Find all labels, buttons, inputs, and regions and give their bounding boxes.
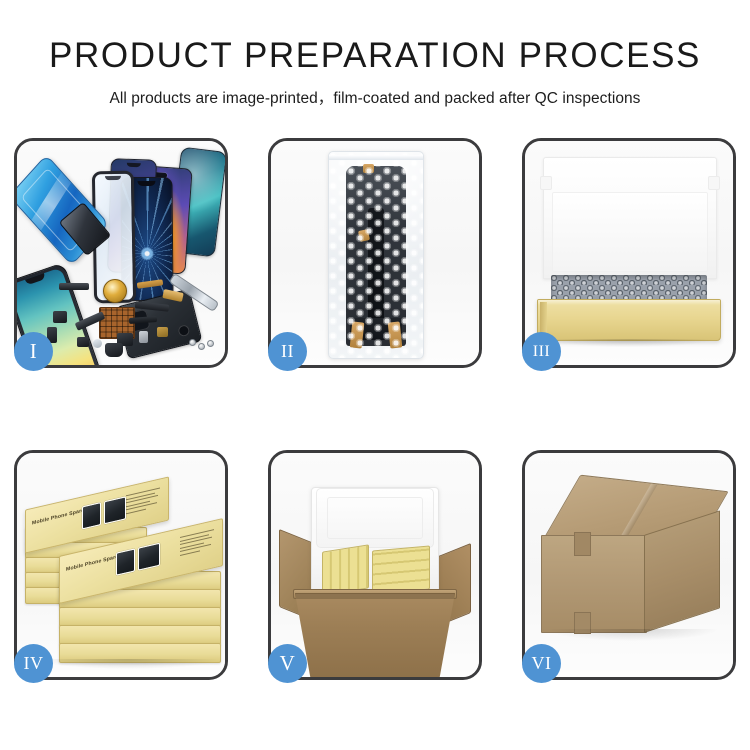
box-lid-text-lines <box>180 529 214 563</box>
small-part-icon <box>157 327 168 337</box>
stack-shadow <box>39 659 217 669</box>
carton-shadow <box>547 629 717 641</box>
box-lid-window <box>138 543 160 571</box>
step-badge-5: V <box>268 644 307 683</box>
header: PRODUCT PREPARATION PROCESS All products… <box>0 34 750 108</box>
packed-box-column <box>372 545 430 594</box>
step-2-illustration <box>271 141 479 365</box>
speaker-coil-icon <box>103 279 127 303</box>
step-5-illustration <box>271 453 479 677</box>
small-part-icon <box>139 331 148 343</box>
page-title: PRODUCT PREPARATION PROCESS <box>0 34 750 78</box>
bubble-wrap-bag-icon <box>328 151 424 359</box>
step-panel-5: V <box>268 450 482 680</box>
foam-liner-icon <box>311 487 439 599</box>
step-panel-2: II <box>268 138 482 368</box>
step-panel-3: III <box>522 138 736 368</box>
dark-bar-part-icon <box>59 283 89 290</box>
foam-sheet-icon <box>543 157 717 279</box>
stacked-box <box>59 625 221 645</box>
box-lid-text-lines <box>126 487 160 521</box>
bubble-texture-icon <box>329 152 423 358</box>
box-lid-window <box>82 502 101 529</box>
step-6-illustration <box>525 453 733 677</box>
sealed-carton-icon <box>541 483 719 633</box>
process-step-grid: I II <box>14 138 736 680</box>
small-part-icon <box>93 339 102 348</box>
small-part-icon <box>77 337 89 347</box>
product-preparation-infographic: PRODUCT PREPARATION PROCESS All products… <box>0 0 750 750</box>
carton-front-face <box>541 535 647 633</box>
step-badge-1: I <box>14 332 53 371</box>
step-4-illustration: Mobile Phone Spare Parts Mobile Phone Sp… <box>17 453 225 677</box>
bag-seal-icon <box>329 155 423 160</box>
step-badge-6: VI <box>522 644 561 683</box>
open-kraft-box-icon <box>537 157 721 325</box>
box-lid-window <box>116 548 135 575</box>
kraft-tray-icon <box>537 299 721 341</box>
box-shadow <box>545 339 713 347</box>
step-panel-6: VI <box>522 450 736 680</box>
open-carton-icon <box>285 477 465 655</box>
step-panel-4: Mobile Phone Spare Parts Mobile Phone Sp… <box>14 450 228 680</box>
step-badge-3: III <box>522 332 561 371</box>
step-badge-4: IV <box>14 644 53 683</box>
step-3-illustration <box>525 141 733 365</box>
page-subtitle: All products are image-printed，film-coat… <box>0 86 750 108</box>
step-badge-2: II <box>268 332 307 371</box>
packed-boxes-icon <box>322 548 430 592</box>
small-part-icon <box>105 343 123 357</box>
screws-icon <box>189 339 215 349</box>
carton-front-panel <box>295 593 455 677</box>
box-stack-icon: Mobile Phone Spare Parts Mobile Phone Sp… <box>25 475 223 665</box>
foam-tab-icon <box>708 176 720 190</box>
step-panel-1: I <box>14 138 228 368</box>
stacked-box <box>59 607 221 627</box>
step-1-illustration <box>17 141 225 365</box>
foam-lid-open-icon <box>316 488 434 548</box>
small-part-icon <box>53 311 67 323</box>
box-lid-window <box>104 496 126 524</box>
